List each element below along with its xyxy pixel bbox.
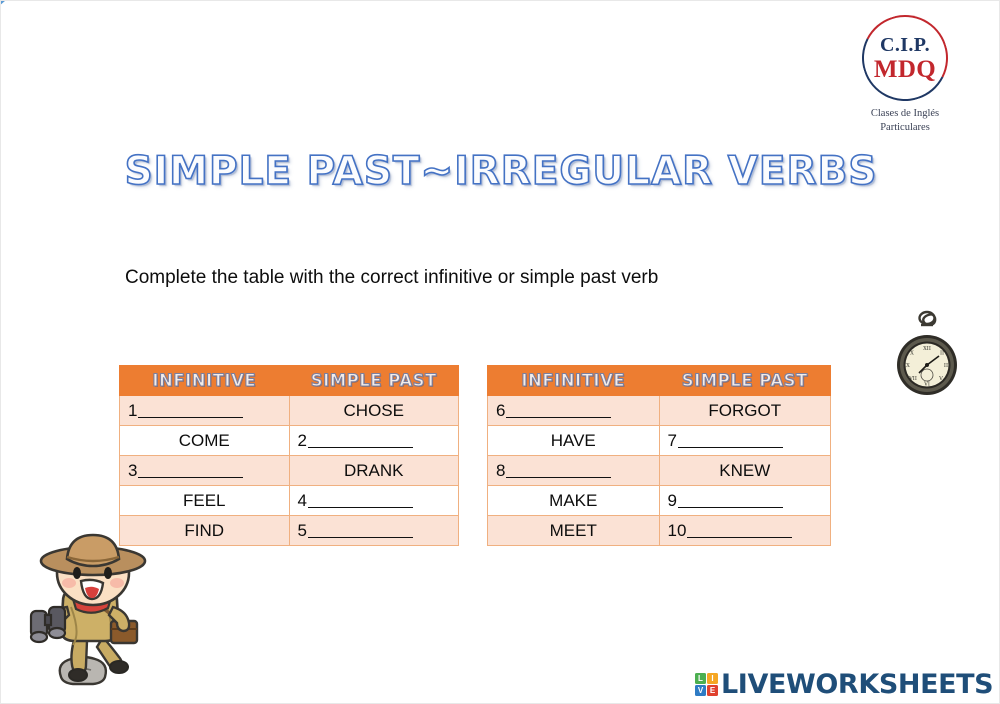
worksheet-title: SIMPLE PAST~IRREGULAR VERBS [1, 149, 1000, 194]
verb-word: CHOSE [344, 401, 404, 420]
blank-number: 5 [298, 521, 307, 540]
table-row: FEEL4 [120, 486, 459, 516]
svg-text:VI: VI [923, 382, 930, 388]
logo-circle-icon: C.I.P. MDQ [862, 15, 948, 101]
verb-table-right: INFINITIVE SIMPLE PAST 6FORGOTHAVE78KNEW… [487, 365, 831, 546]
svg-text:III: III [944, 363, 950, 369]
page-title: SIMPLE PAST~IRREGULAR VERBS [125, 149, 878, 194]
logo-subtitle: Clases de Inglés Particulares [829, 107, 981, 135]
instruction-text: Complete the table with the correct infi… [125, 267, 658, 289]
column-header-infinitive: INFINITIVE [488, 366, 660, 396]
liveworksheets-logo: LIVE LIVEWORKSHEETS [695, 669, 993, 700]
answer-input-line[interactable] [308, 447, 413, 448]
logo-subtitle-line1: Clases de Inglés [829, 107, 981, 121]
blank-number: 8 [496, 461, 505, 480]
answer-blank-cell[interactable]: 1 [120, 396, 290, 426]
liveworksheets-square-e: E [707, 685, 718, 696]
logo-subtitle-line2: Particulares [829, 121, 981, 135]
logo-initials: C.I.P. [880, 35, 930, 55]
verb-word: COME [179, 431, 230, 450]
verb-word-cell: COME [120, 426, 290, 456]
verb-word-cell: FEEL [120, 486, 290, 516]
answer-input-line[interactable] [138, 417, 243, 418]
verb-word: FORGOT [708, 401, 781, 420]
answer-blank-cell[interactable]: 8 [488, 456, 660, 486]
table-row: MEET10 [488, 516, 831, 546]
verb-word-cell: MAKE [488, 486, 660, 516]
liveworksheets-brand-name: LIVEWORKSHEETS [721, 669, 993, 700]
verb-word-cell: HAVE [488, 426, 660, 456]
verb-word-cell: KNEW [659, 456, 831, 486]
liveworksheets-square-l: L [695, 673, 706, 684]
verb-word: DRANK [344, 461, 404, 480]
answer-blank-cell[interactable]: 3 [120, 456, 290, 486]
answer-input-line[interactable] [308, 537, 413, 538]
table-row: MAKE9 [488, 486, 831, 516]
verb-word: KNEW [719, 461, 770, 480]
svg-text:VII: VII [908, 376, 917, 382]
verb-table-right-body: 6FORGOTHAVE78KNEWMAKE9MEET10 [488, 396, 831, 546]
svg-text:IX: IX [904, 363, 910, 369]
table-row: COME2 [120, 426, 459, 456]
blank-number: 3 [128, 461, 137, 480]
liveworksheets-square-i: I [707, 673, 718, 684]
column-header-simple-past: SIMPLE PAST [289, 366, 459, 396]
quiz-ribbon-band: QUIZ 2 [0, 0, 251, 52]
verb-table-left-body: 1CHOSECOME23DRANKFEEL4FIND5 [120, 396, 459, 546]
answer-blank-cell[interactable]: 7 [659, 426, 831, 456]
blank-number: 9 [668, 491, 677, 510]
svg-text:XII: XII [923, 346, 931, 352]
pocket-watch-icon: XII II III V VI VII IX X [891, 309, 963, 403]
blank-number: 2 [298, 431, 307, 450]
table-row: 8KNEW [488, 456, 831, 486]
verb-word: FEEL [183, 491, 226, 510]
cip-mdq-logo: C.I.P. MDQ Clases de Inglés Particulares [829, 15, 981, 133]
liveworksheets-letter-squares: LIVE [695, 673, 718, 696]
liveworksheets-square-v: V [695, 685, 706, 696]
answer-input-line[interactable] [678, 507, 783, 508]
column-header-infinitive: INFINITIVE [120, 366, 290, 396]
answer-blank-cell[interactable]: 4 [289, 486, 459, 516]
answer-input-line[interactable] [308, 507, 413, 508]
answer-input-line[interactable] [678, 447, 783, 448]
worksheet-page: QUIZ 2 C.I.P. MDQ Clases de Inglés Parti… [0, 0, 1000, 704]
verb-word-cell: MEET [488, 516, 660, 546]
answer-blank-cell[interactable]: 9 [659, 486, 831, 516]
answer-input-line[interactable] [506, 477, 611, 478]
blank-number: 10 [668, 521, 687, 540]
svg-text:V: V [938, 376, 943, 382]
verb-word: FIND [184, 521, 224, 540]
answer-input-line[interactable] [506, 417, 611, 418]
verb-word-cell: DRANK [289, 456, 459, 486]
table-row: HAVE7 [488, 426, 831, 456]
verb-table-left: INFINITIVE SIMPLE PAST 1CHOSECOME23DRANK… [119, 365, 459, 546]
table-header-row: INFINITIVE SIMPLE PAST [488, 366, 831, 396]
blank-number: 1 [128, 401, 137, 420]
answer-input-line[interactable] [138, 477, 243, 478]
logo-name: MDQ [874, 57, 936, 82]
svg-text:II: II [940, 351, 944, 357]
quiz-ribbon: QUIZ 2 [0, 0, 267, 171]
verb-word: MAKE [549, 491, 597, 510]
answer-blank-cell[interactable]: 2 [289, 426, 459, 456]
table-row: 6FORGOT [488, 396, 831, 426]
svg-text:X: X [910, 351, 914, 357]
answer-blank-cell[interactable]: 6 [488, 396, 660, 426]
blank-number: 6 [496, 401, 505, 420]
table-header-row: INFINITIVE SIMPLE PAST [120, 366, 459, 396]
blank-number: 7 [668, 431, 677, 450]
blank-number: 4 [298, 491, 307, 510]
table-row: 3DRANK [120, 456, 459, 486]
verb-word-cell: CHOSE [289, 396, 459, 426]
table-row: 1CHOSE [120, 396, 459, 426]
explorer-boy-illustration [7, 525, 183, 701]
verb-word-cell: FORGOT [659, 396, 831, 426]
verb-word: HAVE [551, 431, 596, 450]
verb-word: MEET [550, 521, 597, 540]
answer-input-line[interactable] [687, 537, 792, 538]
logo-inner-text: C.I.P. MDQ [862, 15, 948, 101]
column-header-simple-past: SIMPLE PAST [659, 366, 831, 396]
answer-blank-cell[interactable]: 5 [289, 516, 459, 546]
answer-blank-cell[interactable]: 10 [659, 516, 831, 546]
